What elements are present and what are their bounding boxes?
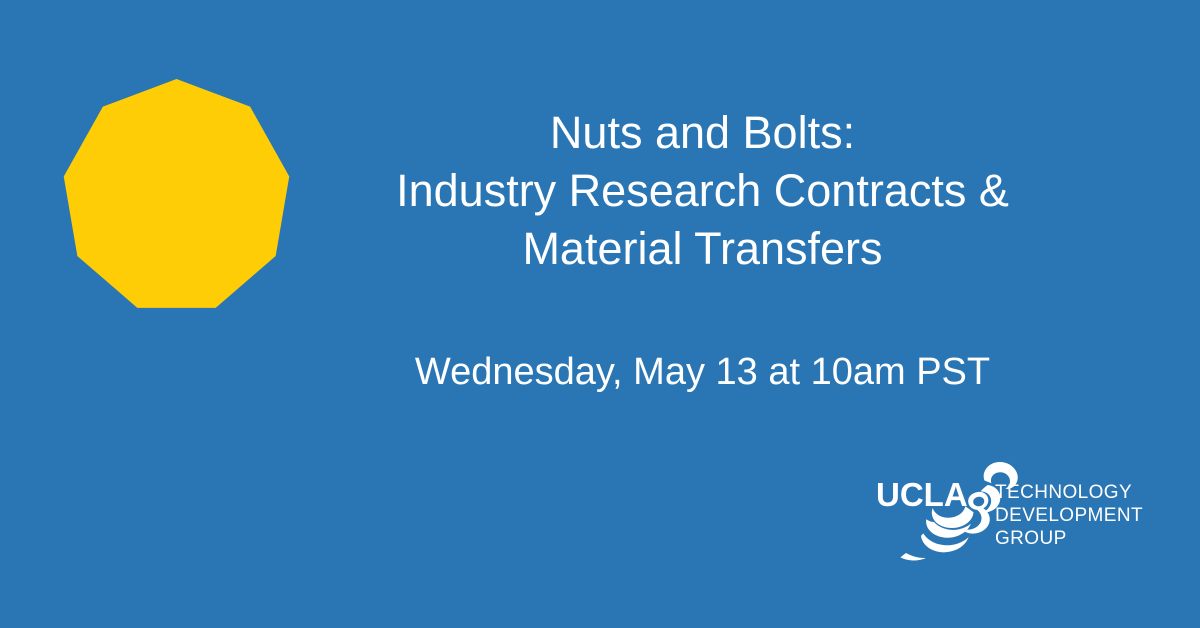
ucla-tdg-logo: UCLA TECHNOLOGY DEVELOPMENT GROUP [866, 448, 1116, 568]
logo-subline-3: GROUP [995, 528, 1067, 549]
title-line-2: Industry Research Contracts & [250, 162, 1155, 220]
title-line-1: Nuts and Bolts: [250, 104, 1155, 162]
logo-wordmark: UCLA [876, 476, 968, 513]
event-datetime: Wednesday, May 13 at 10am PST [250, 348, 1155, 396]
event-banner: Nuts and Bolts: Industry Research Contra… [0, 0, 1200, 628]
page-title: Nuts and Bolts: Industry Research Contra… [250, 104, 1155, 278]
logo-subline-2: DEVELOPMENT [995, 505, 1143, 526]
logo-subline-1: TECHNOLOGY [995, 482, 1132, 503]
title-line-3: Material Transfers [250, 220, 1155, 278]
